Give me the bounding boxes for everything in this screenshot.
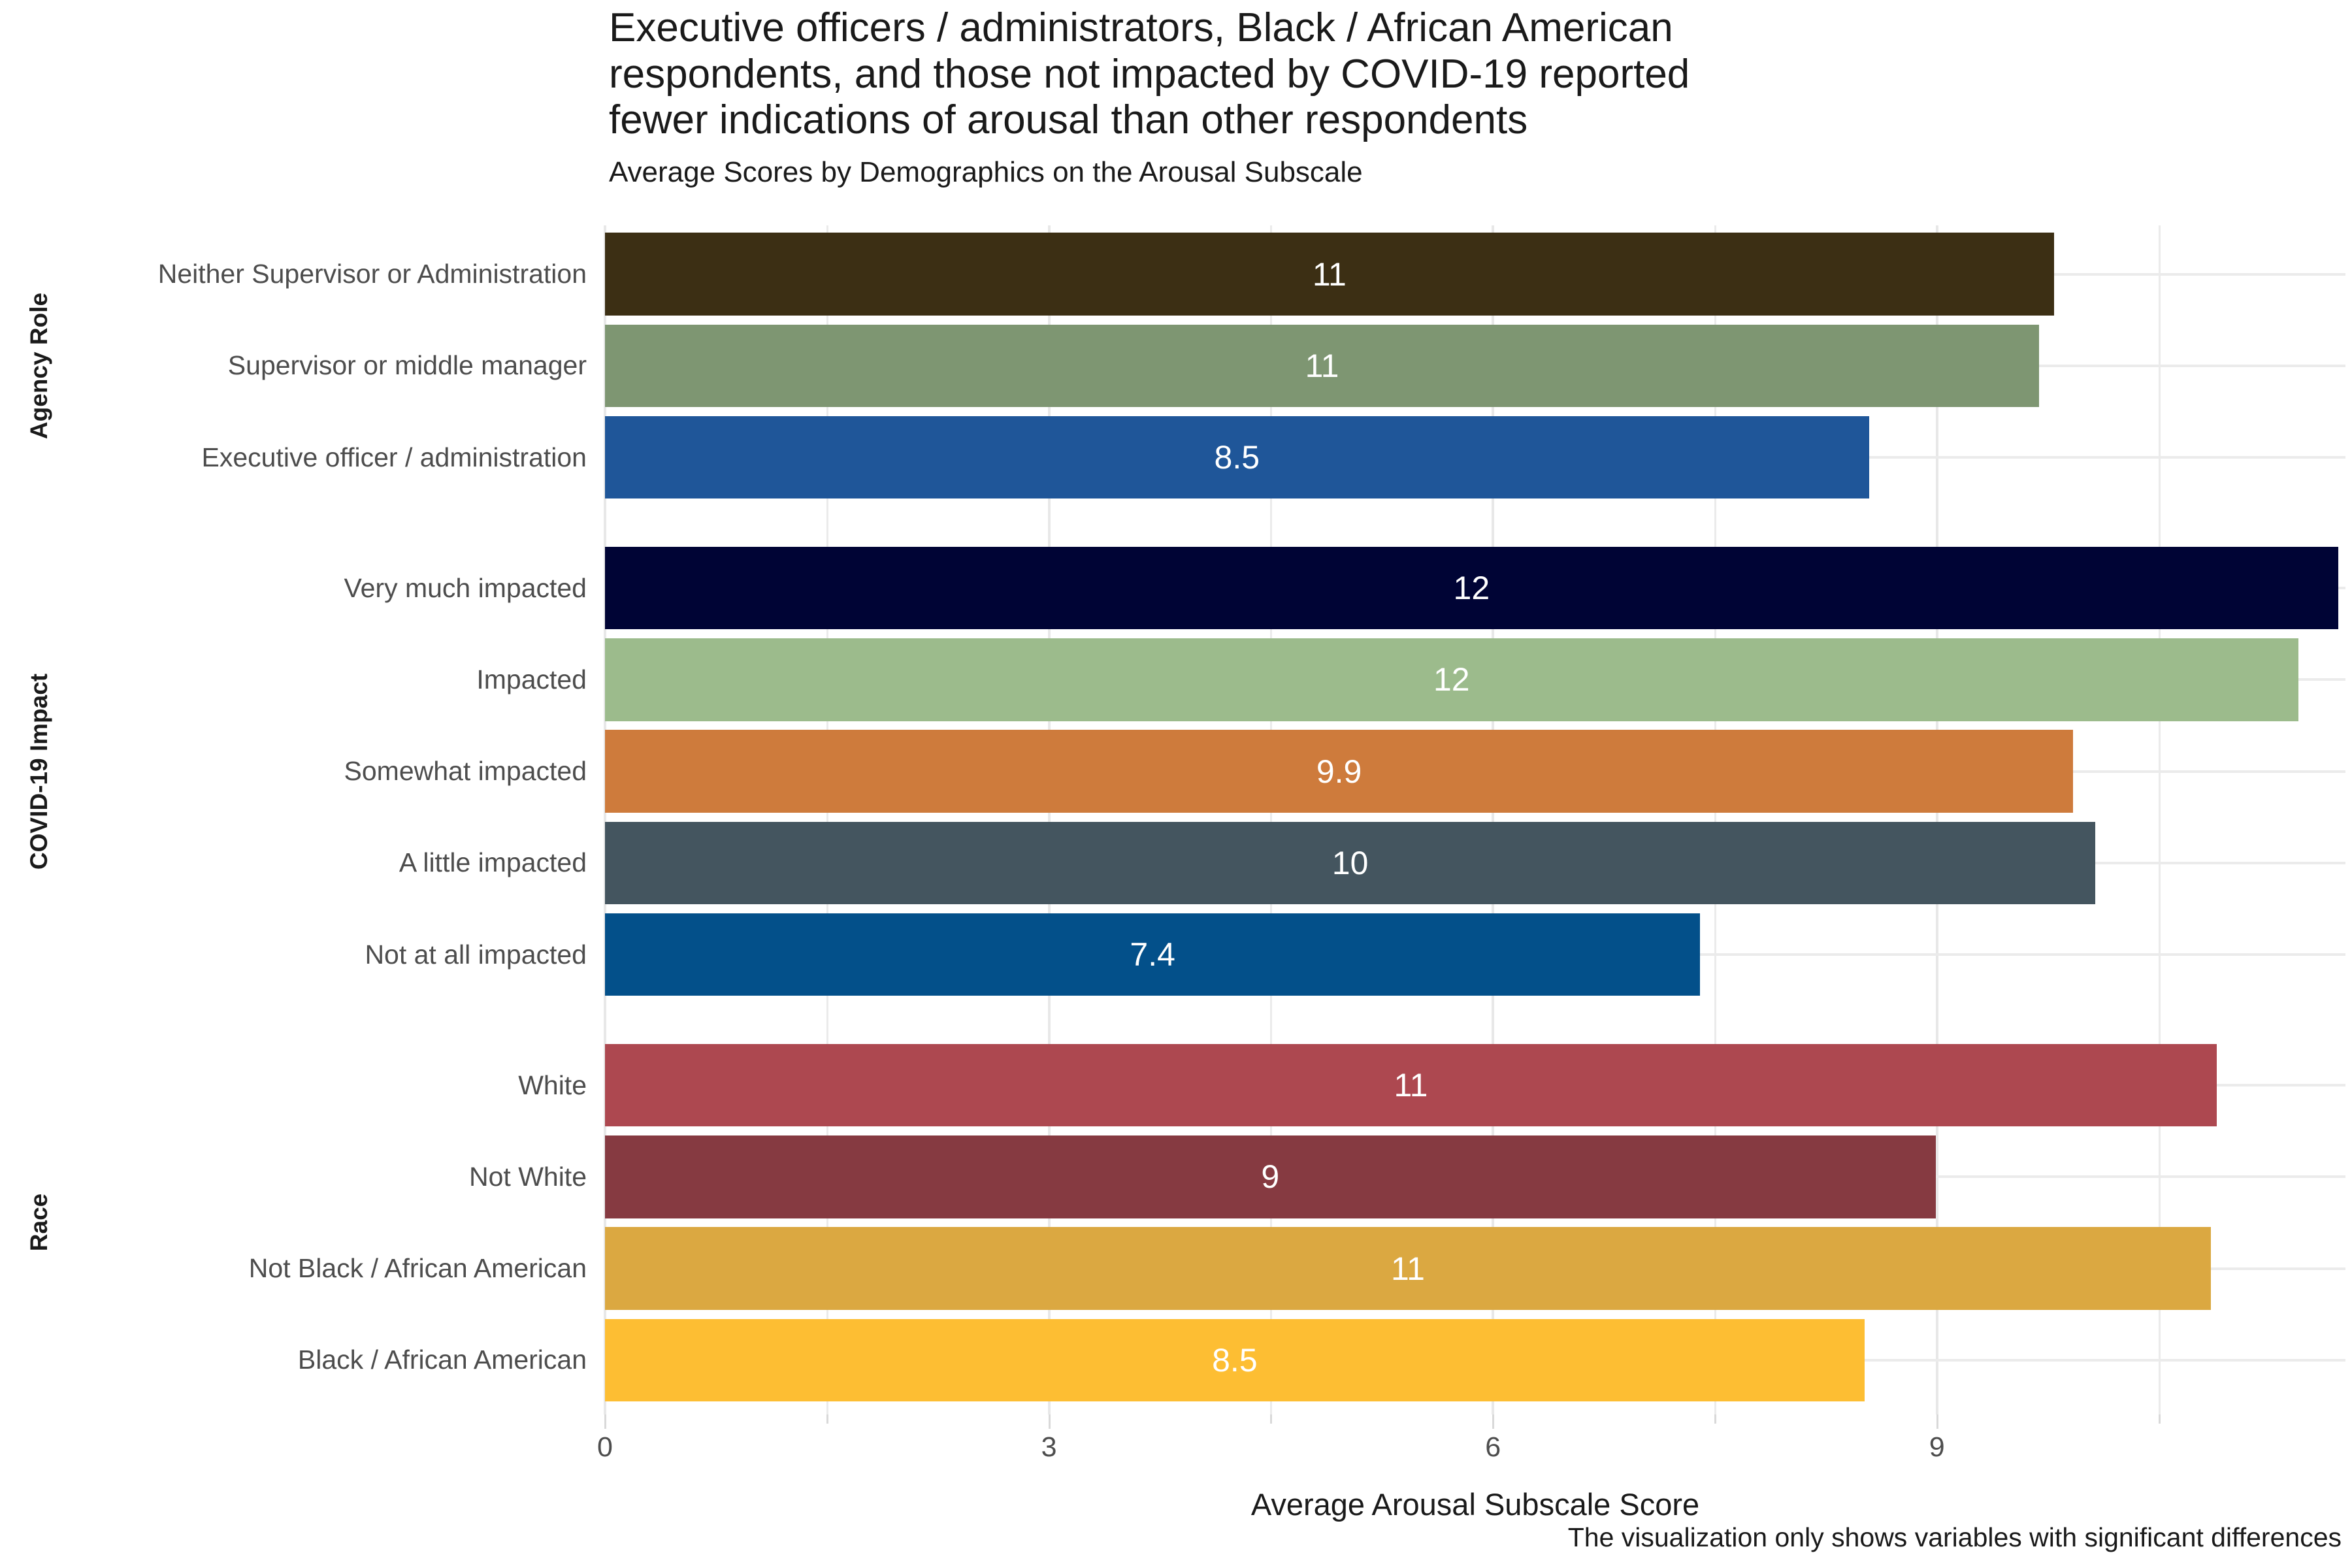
y-axis-tick-label: White bbox=[90, 1044, 587, 1126]
x-axis-tick-label: 9 bbox=[1929, 1431, 1945, 1463]
x-axis-tick-mark bbox=[604, 1414, 606, 1429]
bar-value-label: 11 bbox=[1391, 1252, 1425, 1285]
y-axis-tick-label: Very much impacted bbox=[90, 547, 587, 629]
bar-row[interactable]: 11 bbox=[605, 233, 2345, 315]
bar-row[interactable]: 8.5 bbox=[605, 1319, 2345, 1401]
x-axis: 0369 bbox=[605, 1414, 2345, 1493]
y-axis-tick-label: Impacted bbox=[90, 638, 587, 721]
x-axis-tick-label: 3 bbox=[1041, 1431, 1057, 1463]
x-axis-minor-tick-mark bbox=[2159, 1414, 2161, 1424]
x-axis-minor-tick-mark bbox=[826, 1414, 828, 1424]
x-axis-tick-mark bbox=[1049, 1414, 1051, 1429]
bar-value-label: 8.5 bbox=[1212, 1344, 1258, 1377]
x-axis-tick-mark bbox=[1492, 1414, 1494, 1429]
bar-value-label: 8.5 bbox=[1215, 441, 1260, 474]
x-axis-minor-tick-mark bbox=[1714, 1414, 1716, 1424]
bar-row[interactable]: 11 bbox=[605, 325, 2345, 407]
y-axis-tick-label: Not at all impacted bbox=[90, 913, 587, 996]
y-axis-tick-label: Neither Supervisor or Administration bbox=[90, 233, 587, 315]
chart-subtitle: Average Scores by Demographics on the Ar… bbox=[609, 155, 1850, 190]
chart-page: Executive officers / administrators, Bla… bbox=[0, 0, 2352, 1568]
bar-row[interactable]: 12 bbox=[605, 638, 2345, 721]
y-axis-tick-label: Not Black / African American bbox=[90, 1227, 587, 1309]
bar-value-label: 9.9 bbox=[1316, 755, 1362, 788]
bar-value-label: 12 bbox=[1433, 663, 1470, 696]
x-axis-minor-tick-mark bbox=[1270, 1414, 1272, 1424]
y-axis-tick-label: Supervisor or middle manager bbox=[90, 325, 587, 407]
chart-caption: The visualization only shows variables w… bbox=[1568, 1522, 2342, 1553]
x-axis-title: Average Arousal Subscale Score bbox=[605, 1486, 2345, 1522]
page-title: Executive officers / administrators, Bla… bbox=[609, 5, 1850, 144]
x-axis-tick-label: 0 bbox=[597, 1431, 613, 1463]
y-axis-tick-label: A little impacted bbox=[90, 822, 587, 904]
plot-panel: 11118.512129.9107.4119118.5 bbox=[605, 225, 2345, 1414]
bar-value-label: 11 bbox=[1305, 350, 1339, 382]
bar-row[interactable]: 11 bbox=[605, 1044, 2345, 1126]
y-axis-tick-label: Executive officer / administration bbox=[90, 416, 587, 498]
bar-row[interactable]: 8.5 bbox=[605, 416, 2345, 498]
bar-value-label: 11 bbox=[1313, 258, 1347, 291]
bar-value-label: 11 bbox=[1394, 1069, 1428, 1102]
bar-row[interactable]: 10 bbox=[605, 822, 2345, 904]
title-block: Executive officers / administrators, Bla… bbox=[609, 5, 1850, 190]
y-axis-tick-label: Not White bbox=[90, 1135, 587, 1218]
bar-value-label: 10 bbox=[1332, 847, 1369, 879]
bar-value-label: 9 bbox=[1261, 1160, 1279, 1193]
bar-value-label: 12 bbox=[1454, 572, 1490, 604]
bar-value-label: 7.4 bbox=[1130, 938, 1175, 971]
bar-row[interactable]: 9 bbox=[605, 1135, 2345, 1218]
y-axis-tick-label: Black / African American bbox=[90, 1319, 587, 1401]
y-axis-tick-label: Somewhat impacted bbox=[90, 730, 587, 812]
bar-row[interactable]: 12 bbox=[605, 547, 2345, 629]
y-axis-labels: Neither Supervisor or AdministrationSupe… bbox=[0, 225, 605, 1414]
bar-row[interactable]: 9.9 bbox=[605, 730, 2345, 812]
x-axis-tick-mark bbox=[1936, 1414, 1938, 1429]
bar-row[interactable]: 11 bbox=[605, 1227, 2345, 1309]
x-axis-tick-label: 6 bbox=[1485, 1431, 1501, 1463]
bar-row[interactable]: 7.4 bbox=[605, 913, 2345, 996]
